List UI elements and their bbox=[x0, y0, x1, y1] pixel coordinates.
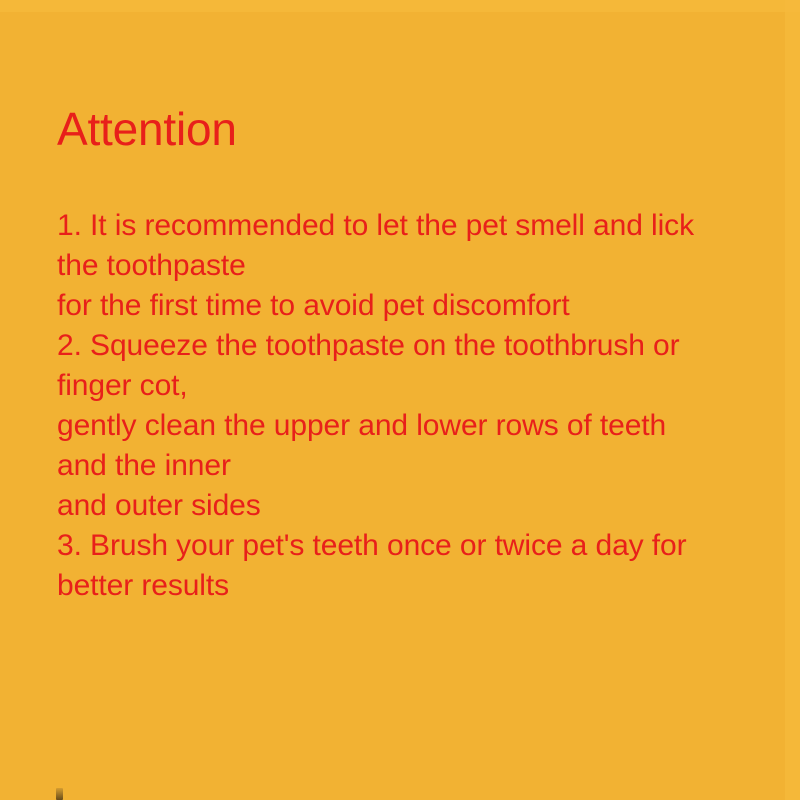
instruction-list: 1. It is recommended to let the pet smel… bbox=[57, 206, 757, 606]
page-title: Attention bbox=[57, 103, 237, 155]
instruction-line: and outer sides bbox=[57, 486, 757, 526]
instruction-line: 3. Brush your pet's teeth once or twice … bbox=[57, 526, 757, 566]
instruction-line: 2. Squeeze the toothpaste on the toothbr… bbox=[57, 326, 757, 366]
bottom-edge-artifact bbox=[56, 788, 63, 800]
instruction-line: and the inner bbox=[57, 446, 757, 486]
attention-poster: Attention 1. It is recommended to let th… bbox=[0, 0, 800, 800]
instruction-line: better results bbox=[57, 566, 757, 606]
top-edge-band bbox=[0, 0, 800, 12]
right-edge-band bbox=[785, 0, 800, 800]
instruction-line: for the first time to avoid pet discomfo… bbox=[57, 286, 757, 326]
instruction-line: gently clean the upper and lower rows of… bbox=[57, 406, 757, 446]
instruction-line: 1. It is recommended to let the pet smel… bbox=[57, 206, 757, 246]
instruction-line: finger cot, bbox=[57, 366, 757, 406]
instruction-line: the toothpaste bbox=[57, 246, 757, 286]
